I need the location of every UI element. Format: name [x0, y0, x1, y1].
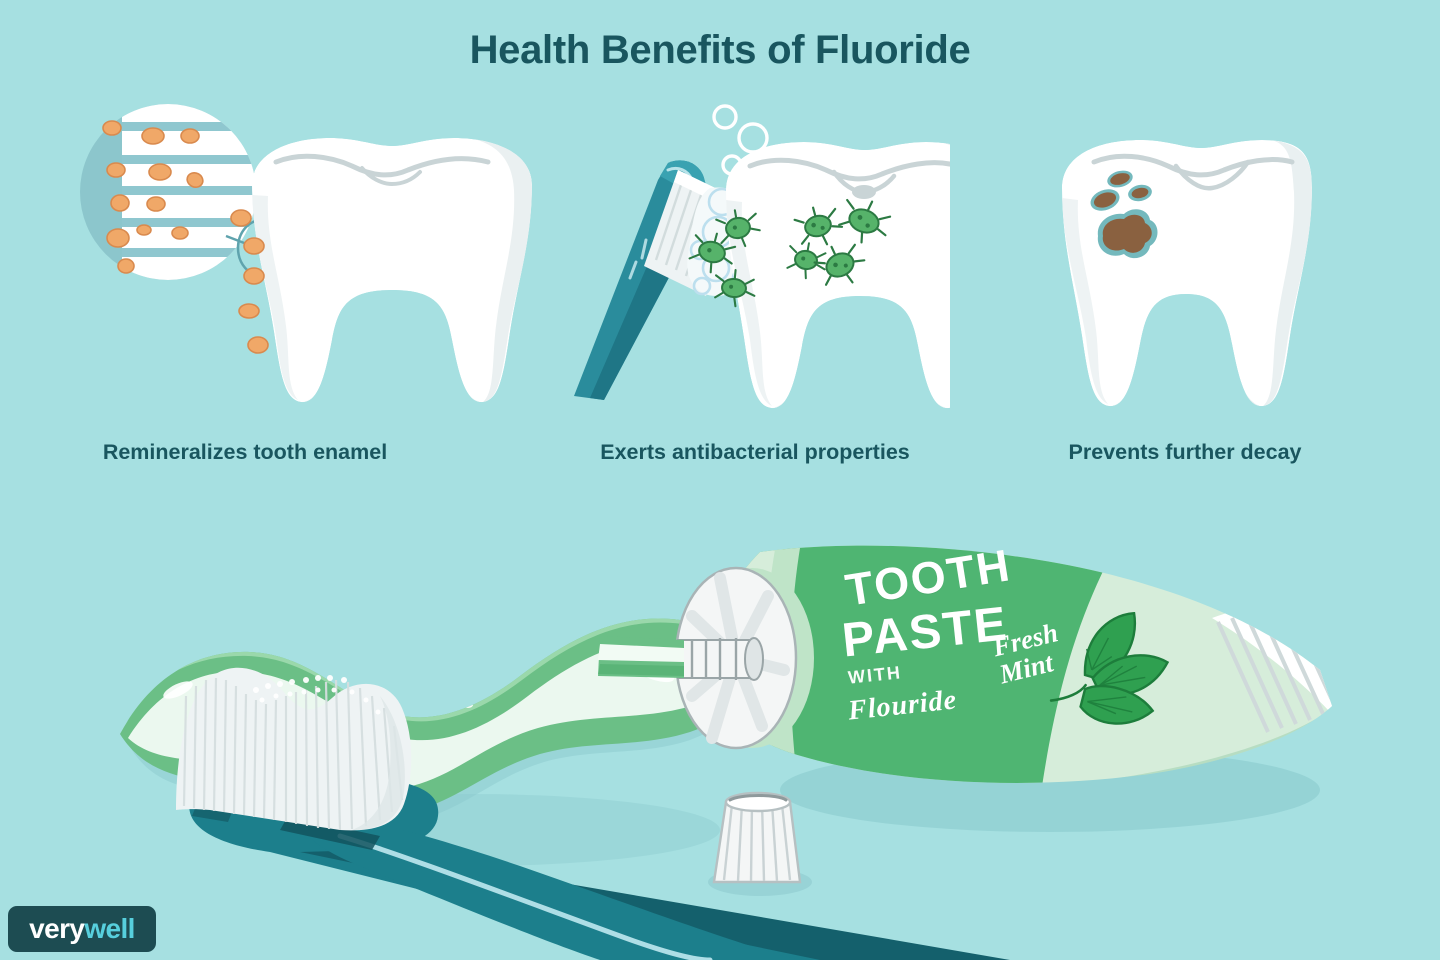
logo-text-well: well: [84, 913, 135, 944]
logo-text-very: very: [29, 913, 84, 944]
illustration-toothpaste-tube-and-brush: TOOTH PASTE WITH Flouride Fresh Mint: [0, 500, 1440, 960]
tooth-shape: [1062, 140, 1312, 406]
page-title: Health Benefits of Fluoride: [0, 28, 1440, 73]
illustration-tooth-with-enamel-magnifier: [40, 100, 650, 430]
benefit-card-antibacterial: Exerts antibacterial properties: [560, 100, 950, 510]
benefit-card-prevents-decay: Prevents further decay: [1040, 100, 1330, 510]
verywell-logo[interactable]: verywell: [8, 906, 156, 952]
illustration-tooth-with-decay-spots: [1040, 100, 1330, 430]
tube-cap-loose: [708, 793, 812, 896]
benefit-caption-remineralizes: Remineralizes tooth enamel: [0, 438, 550, 466]
illustration-toothbrush-scrubbing-germs: [560, 100, 950, 430]
benefit-caption-prevents-decay: Prevents further decay: [1010, 438, 1360, 466]
tube-nozzle: [678, 638, 763, 680]
benefit-card-remineralizes: Remineralizes tooth enamel: [40, 100, 650, 510]
infographic-poster: Health Benefits of Fluoride: [0, 0, 1440, 960]
tooth-shape: [252, 138, 532, 402]
benefit-caption-antibacterial: Exerts antibacterial properties: [560, 438, 950, 466]
